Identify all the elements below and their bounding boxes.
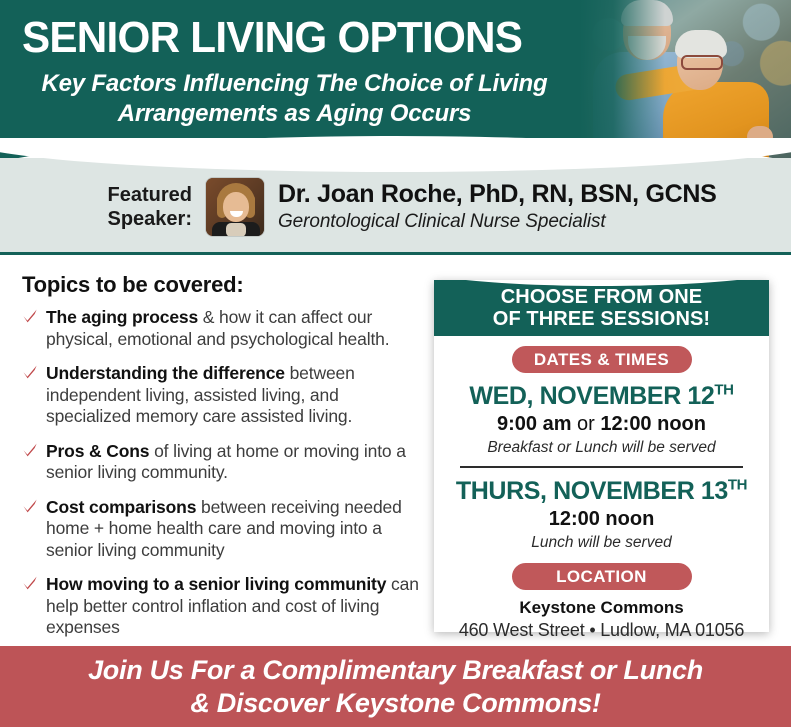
- speaker-role: Gerontological Clinical Nurse Specialist: [278, 210, 716, 234]
- topic-text: Pros & Cons of living at home or moving …: [46, 441, 422, 484]
- sessions-card: CHOOSE FROM ONE OF THREE SESSIONS! DATES…: [434, 280, 769, 632]
- body-content: Topics to be covered: The aging process …: [0, 258, 791, 646]
- topic-bold: Pros & Cons: [46, 441, 149, 461]
- topic-text: The aging process & how it can affect ou…: [46, 307, 422, 350]
- checkmark-icon: [22, 364, 38, 385]
- session-1-date: WED, NOVEMBER 12TH: [434, 382, 769, 410]
- list-item: Cost comparisons between receiving neede…: [22, 497, 422, 562]
- header-text-block: SENIOR LIVING OPTIONS Key Factors Influe…: [22, 13, 582, 129]
- sessions-card-title: CHOOSE FROM ONE OF THREE SESSIONS!: [434, 280, 769, 330]
- sessions-card-header: CHOOSE FROM ONE OF THREE SESSIONS!: [434, 280, 769, 336]
- speaker-band-top-curve: [0, 138, 791, 172]
- session-1-time: 9:00 am or 12:00 noon: [434, 413, 769, 436]
- session-2-time: 12:00 noon: [434, 508, 769, 531]
- venue-name: Keystone Commons: [434, 597, 769, 618]
- dates-times-badge: DATES & TIMES: [512, 346, 692, 373]
- senior-living-options-flyer: SENIOR LIVING OPTIONS Key Factors Influe…: [0, 0, 791, 727]
- topic-bold: Understanding the difference: [46, 363, 285, 383]
- session-2-date-suffix: TH: [728, 477, 747, 494]
- speaker-avatar: [206, 178, 264, 236]
- page-subtitle: Key Factors Influencing The Choice of Li…: [22, 69, 567, 129]
- photo-left-fade: [579, 0, 665, 158]
- topic-bold: The aging process: [46, 307, 198, 327]
- speaker-row: Featured Speaker: Dr. Joan Roche, PhD, R…: [96, 178, 716, 236]
- venue-address: 460 West Street • Ludlow, MA 01056: [434, 619, 769, 641]
- speaker-band-bottom-rule: [0, 252, 791, 255]
- footer-call-to-action: Join Us For a Complimentary Breakfast or…: [88, 654, 703, 720]
- checkmark-icon: [22, 575, 38, 596]
- session-1-time-separator: or: [572, 413, 601, 435]
- footer-banner: Join Us For a Complimentary Breakfast or…: [0, 646, 791, 727]
- speaker-name: Dr. Joan Roche, PhD, RN, BSN, GCNS: [278, 180, 716, 208]
- list-item: How moving to a senior living community …: [22, 574, 422, 639]
- featured-speaker-label-line1: Featured: [96, 183, 192, 207]
- topics-section: Topics to be covered: The aging process …: [22, 272, 422, 652]
- session-1-time-b: 12:00 noon: [600, 413, 706, 435]
- topic-bold: How moving to a senior living community: [46, 574, 386, 594]
- session-1-time-a: 9:00 am: [497, 413, 572, 435]
- session-2-date-main: THURS, NOVEMBER 13: [456, 477, 728, 505]
- session-block-1: WED, NOVEMBER 12TH 9:00 am or 12:00 noon…: [434, 382, 769, 457]
- header-banner: SENIOR LIVING OPTIONS Key Factors Influe…: [0, 0, 791, 158]
- session-1-date-suffix: TH: [714, 382, 733, 399]
- featured-speaker-label: Featured Speaker:: [96, 183, 192, 231]
- footer-line1: Join Us For a Complimentary Breakfast or…: [88, 654, 703, 687]
- location-badge: LOCATION: [512, 563, 692, 590]
- page-title: SENIOR LIVING OPTIONS: [22, 13, 560, 63]
- speaker-details: Dr. Joan Roche, PhD, RN, BSN, GCNS Geron…: [278, 180, 716, 234]
- photo-woman-hair: [675, 30, 727, 58]
- session-1-date-main: WED, NOVEMBER 12: [469, 382, 714, 410]
- featured-speaker-band: Featured Speaker: Dr. Joan Roche, PhD, R…: [0, 158, 791, 255]
- sessions-card-title-line2: OF THREE SESSIONS!: [434, 308, 769, 330]
- list-item: Pros & Cons of living at home or moving …: [22, 441, 422, 484]
- checkmark-icon: [22, 442, 38, 463]
- topic-text: How moving to a senior living community …: [46, 574, 422, 639]
- avatar-scarf: [226, 223, 246, 236]
- checkmark-icon: [22, 308, 38, 329]
- sessions-card-title-line1: CHOOSE FROM ONE: [434, 286, 769, 308]
- list-item: The aging process & how it can affect ou…: [22, 307, 422, 350]
- topic-text: Cost comparisons between receiving neede…: [46, 497, 422, 562]
- featured-speaker-label-line2: Speaker:: [96, 207, 192, 231]
- topics-heading: Topics to be covered:: [22, 272, 422, 298]
- session-divider: [460, 466, 743, 468]
- list-item: Understanding the difference between ind…: [22, 363, 422, 428]
- header-couple-photo: [579, 0, 791, 158]
- session-block-2: THURS, NOVEMBER 13TH 12:00 noon Lunch wi…: [434, 477, 769, 552]
- topic-text: Understanding the difference between ind…: [46, 363, 422, 428]
- avatar-face: [223, 192, 249, 222]
- topic-bold: Cost comparisons: [46, 497, 196, 517]
- checkmark-icon: [22, 498, 38, 519]
- session-2-note: Lunch will be served: [434, 533, 769, 552]
- footer-line2: & Discover Keystone Commons!: [88, 687, 703, 720]
- session-2-date: THURS, NOVEMBER 13TH: [434, 477, 769, 505]
- session-1-note: Breakfast or Lunch will be served: [434, 438, 769, 457]
- photo-woman-glasses: [681, 55, 723, 70]
